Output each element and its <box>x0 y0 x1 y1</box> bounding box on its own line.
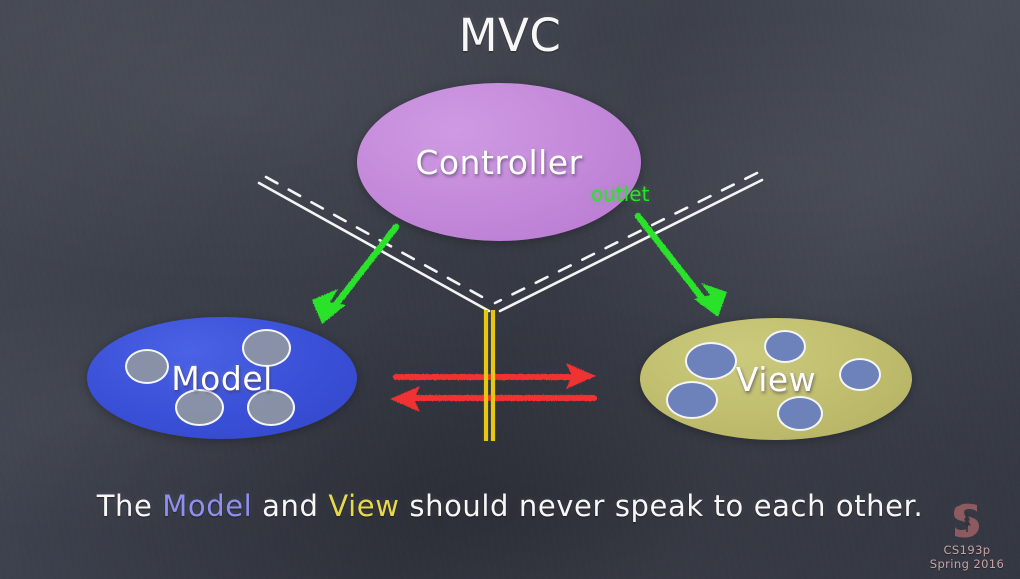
arrows-layer <box>0 0 1020 579</box>
mvc-slide: MVC Controller Model View outlet <box>0 0 1020 579</box>
arrow-model-to-view <box>396 363 596 389</box>
arrow-controller-to-view <box>638 216 727 317</box>
arrow-controller-to-model <box>312 227 396 324</box>
